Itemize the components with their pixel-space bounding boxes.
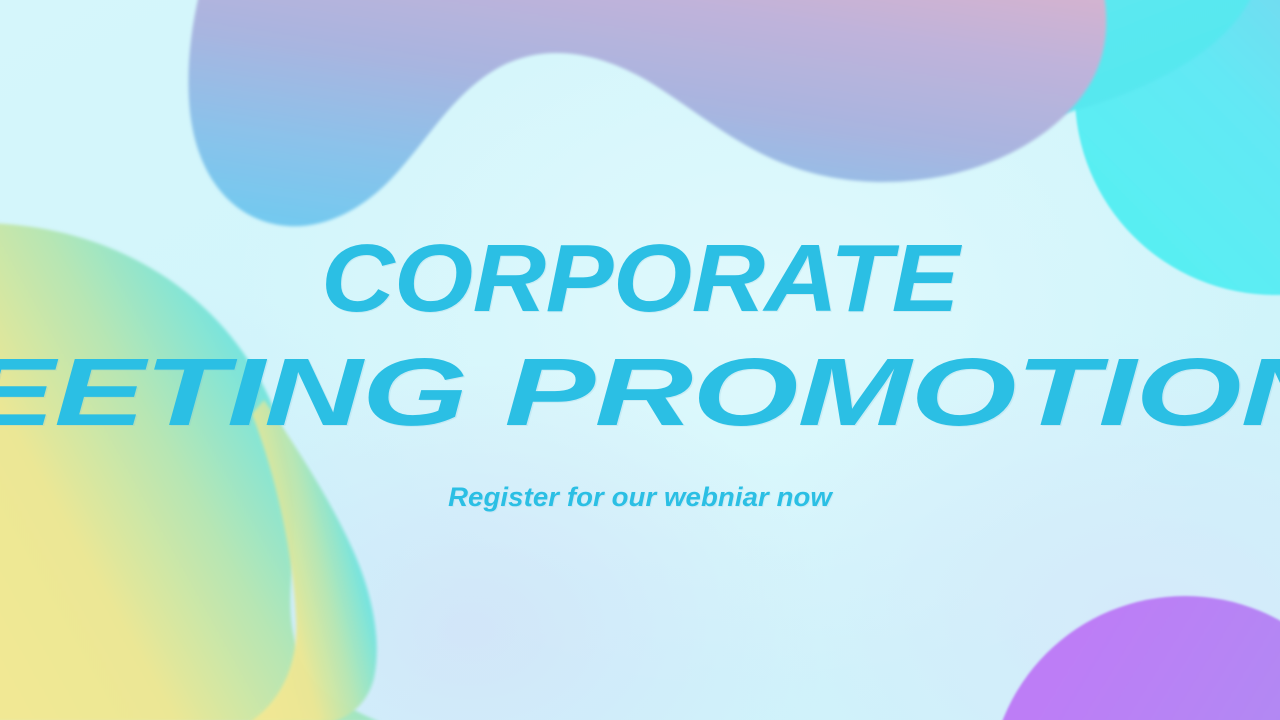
headline-block: CORPORATE MEETING PROMOTIONS Register fo… bbox=[0, 232, 1280, 513]
promotional-slide: CORPORATE MEETING PROMOTIONS Register fo… bbox=[0, 0, 1280, 720]
page-title-line-1: CORPORATE bbox=[0, 232, 1280, 326]
top-left-cyan-wave-shape bbox=[210, 0, 1269, 201]
subtitle-text: Register for our webniar now bbox=[0, 482, 1280, 513]
top-left-lavender-blob-shape bbox=[188, 0, 1106, 226]
page-title-line-2: MEETING PROMOTIONS bbox=[0, 346, 1280, 440]
bottom-right-circle-shape bbox=[989, 596, 1280, 720]
